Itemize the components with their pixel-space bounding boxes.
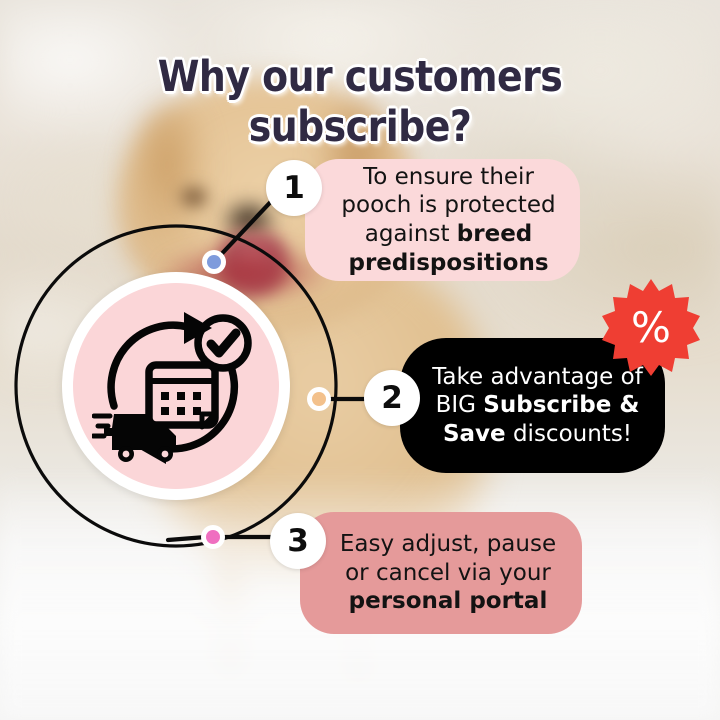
step-number-1: 1 [283,170,305,206]
delivery-truck-icon [93,414,176,462]
connector-line-3-tail [168,537,206,540]
benefit-card-1[interactable]: To ensure their pooch is protected again… [305,159,580,281]
benefit-card-3-text-regular: Easy adjust, pause or cancel via your [340,531,556,586]
infographic-canvas: Why our customers subscribe? [0,0,720,720]
benefit-card-3-text-bold: personal portal [349,588,548,614]
subscription-hub-circle [62,272,290,500]
connector-dot-3 [206,530,220,544]
percent-symbol: % [601,277,701,377]
percent-discount-badge: % [601,277,701,377]
step-number-badge-1: 1 [266,160,322,216]
step-number-2: 2 [381,380,403,416]
step-number-badge-2: 2 [364,370,420,426]
benefit-card-2-text-tail: discounts! [506,421,632,447]
connector-dot-1 [207,255,221,269]
check-circle-icon [198,318,248,368]
benefit-card-1-text: To ensure their pooch is protected again… [331,163,566,277]
subscription-recurring-delivery-icon [92,302,260,470]
calendar-icon [149,365,215,427]
connector-dot-2 [312,392,326,406]
benefit-card-3[interactable]: Easy adjust, pause or cancel via your pe… [300,512,582,634]
step-number-3: 3 [287,523,309,559]
benefit-card-3-text: Easy adjust, pause or cancel via your pe… [328,530,568,616]
step-number-badge-3: 3 [270,513,326,569]
